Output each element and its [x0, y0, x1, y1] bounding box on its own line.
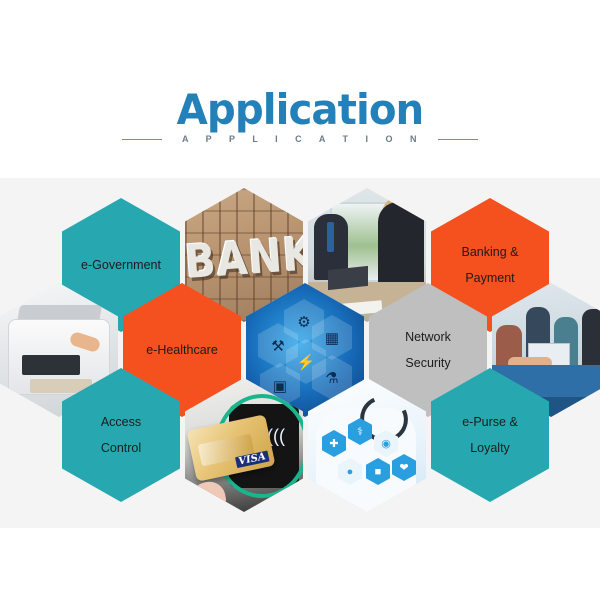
tech-glyph-icon: ▦: [325, 329, 339, 347]
tech-glyph-icon: ⚙: [297, 313, 310, 331]
bank-sign-text: BANK: [185, 228, 303, 289]
tech-glyph-icon: ⚒: [271, 337, 284, 355]
laptop: [328, 266, 368, 290]
page-header: Application A P P L I C A T I O N: [0, 0, 600, 178]
medical-glyph-icon: ✚: [329, 437, 338, 450]
medical-glyph-icon: ●: [347, 466, 354, 478]
office-person-right: [378, 202, 424, 286]
tech-glyph-icon: ▣: [273, 377, 287, 395]
subtitle-row: A P P L I C A T I O N: [0, 134, 600, 144]
hex-label: Banking & Payment: [456, 239, 525, 291]
medical-glyph-icon: ◉: [381, 437, 391, 450]
medical-glyph-icon: ⚕: [357, 425, 363, 438]
hex-label: Network Security: [399, 324, 457, 376]
medical-glyph-icon: ■: [375, 466, 382, 478]
hex-label: e-Purse & Loyalty: [456, 409, 524, 461]
title-block: Application A P P L I C A T I O N: [0, 88, 600, 144]
necktie: [327, 222, 334, 252]
hex-label: e-Healthcare: [140, 337, 224, 363]
hex-label: e-Government: [75, 252, 167, 278]
tech-glyph-icon: ⚗: [325, 369, 338, 387]
holding-thumb: [189, 479, 227, 511]
page-title: Application: [12, 88, 588, 132]
page-subtitle: A P P L I C A T I O N: [162, 134, 438, 144]
medical-glyph-icon: ❤: [399, 461, 408, 474]
divider-left: [122, 139, 162, 140]
divider-right: [438, 139, 478, 140]
honeycomb-grid: e-GovernmentBANKBanking & Paymente-Healt…: [0, 178, 600, 528]
equipment-screen: [22, 355, 80, 375]
footer-spacer: [0, 528, 600, 600]
hex-label: Access Control: [95, 409, 147, 461]
